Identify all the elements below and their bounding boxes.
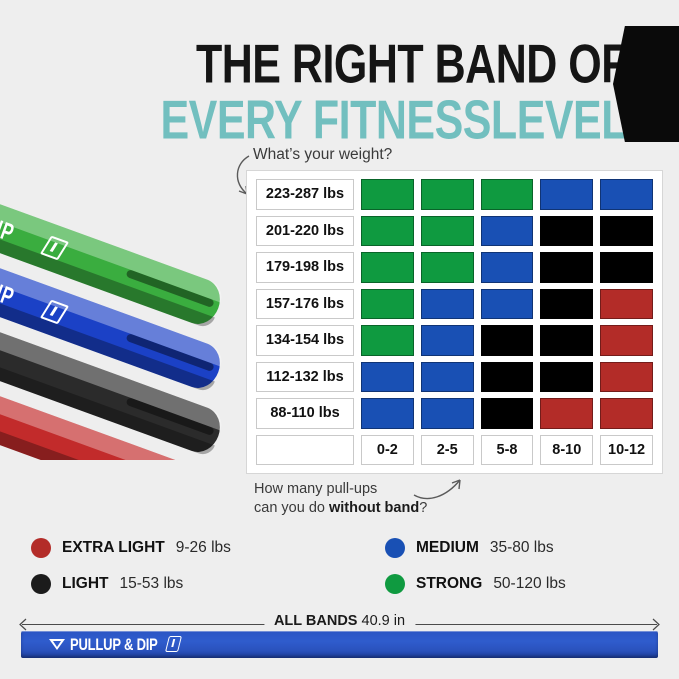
band-cell-blue[interactable] [481, 289, 534, 320]
pullup-question-line1: How many pull-ups [254, 480, 427, 499]
legend-range: 50-120 lbs [493, 575, 565, 593]
band-cell-green[interactable] [361, 216, 414, 247]
chevron-left-icon [613, 26, 679, 142]
band-cell-black[interactable] [540, 216, 593, 247]
legend-color-dot [385, 538, 405, 558]
band-cell-black[interactable] [600, 252, 653, 283]
band-cell-blue[interactable] [421, 362, 474, 393]
pullup-column-header[interactable]: 2-5 [421, 435, 474, 466]
band-cell-blue[interactable] [361, 398, 414, 429]
legend-range: 35-80 lbs [490, 539, 554, 557]
band-cell-green[interactable] [421, 179, 474, 210]
weight-row-label[interactable]: 223-287 lbs [256, 179, 354, 210]
band-cell-green[interactable] [361, 289, 414, 320]
triangle-logo-icon [49, 639, 65, 650]
band-cell-red[interactable] [600, 362, 653, 393]
band-cell-blue[interactable] [481, 216, 534, 247]
pullup-column-header[interactable]: 0-2 [361, 435, 414, 466]
weight-row-label[interactable]: 157-176 lbs [256, 289, 354, 320]
legend-name: EXTRA LIGHT [62, 539, 165, 557]
pullup-question-line2: can you do without band? [254, 499, 427, 518]
weight-question-label: What’s your weight? [253, 146, 392, 164]
brand-logo-text: PULLUP & DIP [70, 635, 158, 654]
legend-item-light: LIGHT 15-53 lbs [31, 574, 183, 594]
band-cell-black[interactable] [540, 289, 593, 320]
legend-range: 9-26 lbs [176, 539, 231, 557]
legend-item-medium: MEDIUM 35-80 lbs [385, 538, 554, 558]
header: THE RIGHT BAND OF EVERY FITNESSLEVEL [0, 0, 679, 148]
weight-row-label[interactable]: 88-110 lbs [256, 398, 354, 429]
weight-row-label[interactable]: 112-132 lbs [256, 362, 354, 393]
band-legend: EXTRA LIGHT 9-26 lbs LIGHT 15-53 lbs MED… [0, 534, 679, 604]
page-title-line2: EVERY FITNESSLEVEL [161, 90, 628, 153]
legend-item-extra-light: EXTRA LIGHT 9-26 lbs [31, 538, 231, 558]
band-selection-grid: 223-287 lbs201-220 lbs179-198 lbs157-176… [256, 179, 653, 465]
band-cell-blue[interactable] [421, 398, 474, 429]
band-cell-blue[interactable] [600, 179, 653, 210]
band-cell-green[interactable] [421, 252, 474, 283]
band-cell-red[interactable] [540, 398, 593, 429]
grid-corner-cell [256, 435, 354, 466]
band-cell-black[interactable] [540, 325, 593, 356]
band-cell-blue[interactable] [421, 289, 474, 320]
pullup-question-label: How many pull-ups can you do without ban… [254, 480, 427, 518]
brand-logo: PULLUP & DIP [49, 636, 180, 652]
pullup-q-bold: without band [329, 500, 419, 516]
band-cell-green[interactable] [421, 216, 474, 247]
arrow-right-icon [652, 618, 660, 631]
band-cell-green[interactable] [361, 325, 414, 356]
weight-row-label[interactable]: 134-154 lbs [256, 325, 354, 356]
band-cell-black[interactable] [481, 325, 534, 356]
pullup-column-header[interactable]: 8-10 [540, 435, 593, 466]
bottom-brand-band: PULLUP & DIP [21, 631, 658, 658]
legend-name: STRONG [416, 575, 482, 593]
measure-label: ALL BANDS 40.9 in [264, 613, 415, 629]
legend-color-dot [385, 574, 405, 594]
legend-color-dot [31, 574, 51, 594]
band-cell-blue[interactable] [540, 179, 593, 210]
weight-row-label[interactable]: 201-220 lbs [256, 216, 354, 247]
measure-label-value: 40.9 in [362, 613, 406, 629]
band-cell-red[interactable] [600, 325, 653, 356]
curved-arrow-up-right-icon [412, 477, 466, 503]
pullup-column-header[interactable]: 5-8 [481, 435, 534, 466]
band-cell-black[interactable] [540, 252, 593, 283]
page-title-line1: THE RIGHT BAND OF [196, 34, 627, 97]
band-cell-black[interactable] [600, 216, 653, 247]
pullup-q-prefix: can you do [254, 500, 329, 516]
band-cell-black[interactable] [481, 398, 534, 429]
legend-name: MEDIUM [416, 539, 479, 557]
legend-item-strong: STRONG 50-120 lbs [385, 574, 566, 594]
band-cell-green[interactable] [361, 179, 414, 210]
band-cell-black[interactable] [481, 362, 534, 393]
legend-range: 15-53 lbs [120, 575, 184, 593]
weight-row-label[interactable]: 179-198 lbs [256, 252, 354, 283]
band-cell-blue[interactable] [421, 325, 474, 356]
band-tag-icon [165, 636, 182, 652]
band-cell-green[interactable] [361, 252, 414, 283]
legend-name: LIGHT [62, 575, 109, 593]
resistance-bands-graphic: PULLUP & DIP PULLUP & DIP [0, 168, 248, 460]
band-cell-red[interactable] [600, 398, 653, 429]
band-cell-blue[interactable] [361, 362, 414, 393]
band-cell-black[interactable] [540, 362, 593, 393]
band-selection-table: 223-287 lbs201-220 lbs179-198 lbs157-176… [246, 170, 663, 474]
legend-color-dot [31, 538, 51, 558]
band-cell-green[interactable] [481, 179, 534, 210]
pullup-column-header[interactable]: 10-12 [600, 435, 653, 466]
arrow-left-icon [19, 618, 27, 631]
measure-label-bold: ALL BANDS [274, 613, 358, 629]
band-cell-red[interactable] [600, 289, 653, 320]
band-cell-blue[interactable] [481, 252, 534, 283]
